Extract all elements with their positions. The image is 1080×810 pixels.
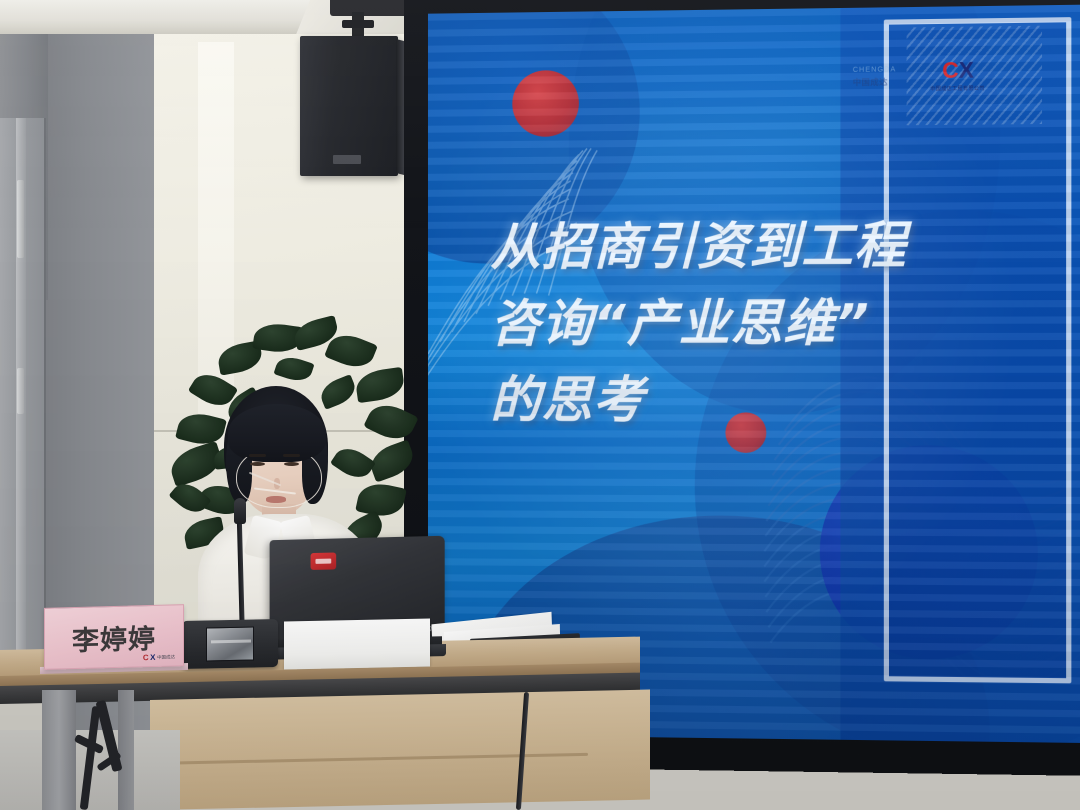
nameplate: 李婷婷 C X 中国成达 — [44, 604, 184, 670]
nameplate-logo-subtitle: 中国成达 — [157, 654, 175, 660]
nameplate-logo: C X 中国成达 — [143, 652, 175, 662]
slide-dot-red-large — [512, 70, 579, 137]
presenter-hair-front — [228, 404, 326, 462]
nameplate-logo-letter-c: C — [143, 653, 148, 662]
ceiling-speaker — [300, 36, 398, 176]
slide-secondary-logo: CHENGDA 中国成达 — [853, 66, 896, 88]
nameplate-logo-letter-x: X — [150, 653, 155, 662]
laptop-sticker — [311, 552, 337, 569]
logo-letter-x: X — [959, 59, 973, 82]
company-logo-subtitle: 中国成达工程有限公司 — [930, 84, 984, 92]
logo-letter-c: C — [942, 59, 957, 82]
microphone-base-unit[interactable] — [182, 619, 278, 669]
microphone-capsule — [234, 498, 246, 524]
door-hinge — [17, 212, 24, 258]
presenter-eyebrow-right — [283, 454, 300, 457]
company-logo-mark: C X — [942, 59, 973, 82]
desk-front-panel — [150, 690, 650, 810]
microphone-display-screen — [206, 626, 254, 661]
secondary-logo-line2: 中国成达 — [853, 76, 896, 88]
speaker-ceiling-bracket — [330, 0, 414, 16]
secondary-logo-line1: CHENGDA — [853, 66, 896, 74]
slide-title: 从招商引资到工程 咨询“产业思维” 的思考 — [490, 206, 1013, 439]
presenter-eyebrow-left — [249, 454, 266, 457]
desk-white-card — [284, 618, 430, 669]
door-hinge — [17, 368, 24, 414]
speaker-badge — [333, 155, 361, 164]
office-chair[interactable] — [58, 700, 168, 810]
photo-scene: CHENGDA 中国成达 C X 中国成达工程有限公司 从招商引资到工程 咨询“… — [0, 0, 1080, 810]
slide-company-logo: C X 中国成达工程有限公司 — [927, 59, 987, 92]
nameplate-name: 李婷婷 — [72, 616, 156, 657]
